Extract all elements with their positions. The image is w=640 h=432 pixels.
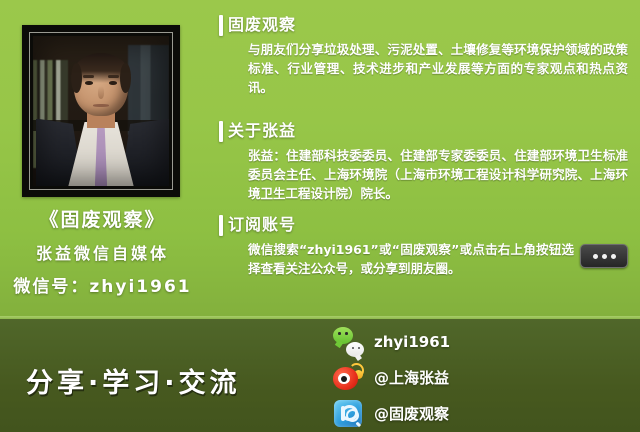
social-account-list: zhyi1961 @上海张益 @固废观察 [333,324,503,432]
wechat-id-text: 微信号：zhyi1961 [0,272,205,297]
section-subscribe: 订阅账号 微信搜索“zhyi1961”或“固废观察”或点击右上角按钮选择查看关注… [205,214,640,278]
section-about: 关于张益 张益：住建部科技委委员、住建部专家委委员、住建部环境卫生标准委员会主任… [205,120,640,203]
section-guguan: 固废观察 与朋友们分享垃圾处理、污泥处置、土壤修复等环境保护领域的政策标准、行业… [205,14,640,97]
section-body: 与朋友们分享垃圾处理、污泥处置、土壤修复等环境保护领域的政策标准、行业管理、技术… [205,40,640,97]
section-marker-bar [219,15,223,36]
footer-slogan: 分享·学习·交流 [26,361,241,400]
section-header: 固废观察 [205,14,640,40]
section-title: 固废观察 [228,15,296,34]
content-column: 固废观察 与朋友们分享垃圾处理、污泥处置、土壤修复等环境保护领域的政策标准、行业… [205,0,640,318]
dot-icon [593,254,598,259]
social-label: zhyi1961 [374,333,450,351]
section-body: 微信搜索“zhyi1961”或“固废观察”或点击右上角按钮选择查看关注公众号，或… [205,240,640,278]
more-options-button[interactable] [580,244,628,268]
section-header: 订阅账号 [205,214,640,240]
social-label: @上海张益 [374,367,449,388]
portrait-frame [22,25,180,197]
section-header: 关于张益 [205,120,640,146]
social-row-wechat[interactable]: zhyi1961 [333,324,503,359]
qq-search-icon [333,398,364,429]
section-marker-bar [219,215,223,236]
section-marker-bar [219,121,223,142]
social-row-qq[interactable]: @固废观察 [333,396,503,431]
wechat-icon [333,326,364,357]
dot-icon [611,254,616,259]
section-title: 关于张益 [228,121,296,140]
weibo-icon [333,362,364,393]
social-row-weibo[interactable]: @上海张益 [333,360,503,395]
footer-bar: 分享·学习·交流 zhyi1961 @上海张益 [0,319,640,432]
profile-column: 《固废观察》 张益微信自媒体 微信号：zhyi1961 [0,0,205,318]
social-label: @固废观察 [374,403,449,424]
section-title: 订阅账号 [228,215,296,234]
dot-icon [602,254,607,259]
section-body: 张益：住建部科技委委员、住建部专家委委员、住建部环境卫生标准委员会主任、上海环境… [205,146,640,203]
publication-subtitle: 张益微信自媒体 [0,240,205,264]
portrait-photo [33,36,169,186]
poster-root: 《固废观察》 张益微信自媒体 微信号：zhyi1961 固废观察 与朋友们分享垃… [0,0,640,432]
photo-vignette [33,36,169,186]
publication-title: 《固废观察》 [0,205,205,232]
